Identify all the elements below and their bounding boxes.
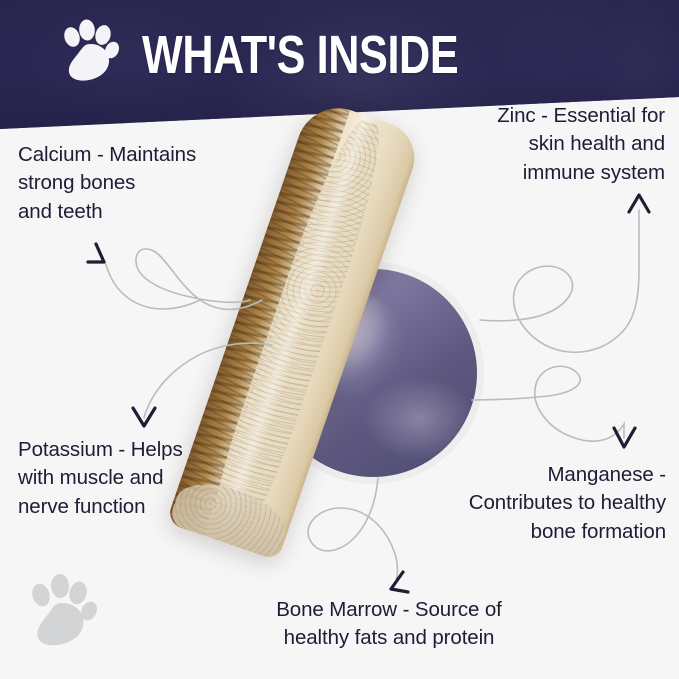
arrow-potassium bbox=[133, 408, 155, 426]
nutrient-label-potassium: Potassium - Helps with muscle and nerve … bbox=[18, 436, 278, 521]
nutrient-label-bone-marrow: Bone Marrow - Source of healthy fats and… bbox=[219, 596, 559, 653]
connector-bone-marrow bbox=[308, 478, 397, 586]
paw-icon bbox=[28, 572, 98, 648]
connector-calcium bbox=[105, 249, 262, 310]
arrow-manganese bbox=[614, 428, 635, 447]
nutrient-label-calcium: Calcium - Maintains strong bones and tee… bbox=[18, 141, 288, 226]
connector-manganese bbox=[472, 366, 624, 441]
connector-zinc bbox=[480, 210, 639, 352]
arrow-bone-marrow bbox=[391, 572, 408, 592]
nutrient-label-zinc: Zinc - Essential for skin health and imm… bbox=[389, 102, 665, 187]
paw-icon bbox=[60, 18, 120, 82]
page-title: WHAT'S INSIDE bbox=[142, 28, 458, 82]
whats-inside-infographic: WHAT'S INSIDE bbox=[0, 0, 679, 679]
header-content: WHAT'S INSIDE bbox=[0, 0, 679, 110]
arrow-calcium bbox=[88, 244, 104, 262]
nutrient-label-manganese: Manganese - Contributes to healthy bone … bbox=[396, 461, 666, 546]
arrow-zinc bbox=[629, 195, 649, 212]
